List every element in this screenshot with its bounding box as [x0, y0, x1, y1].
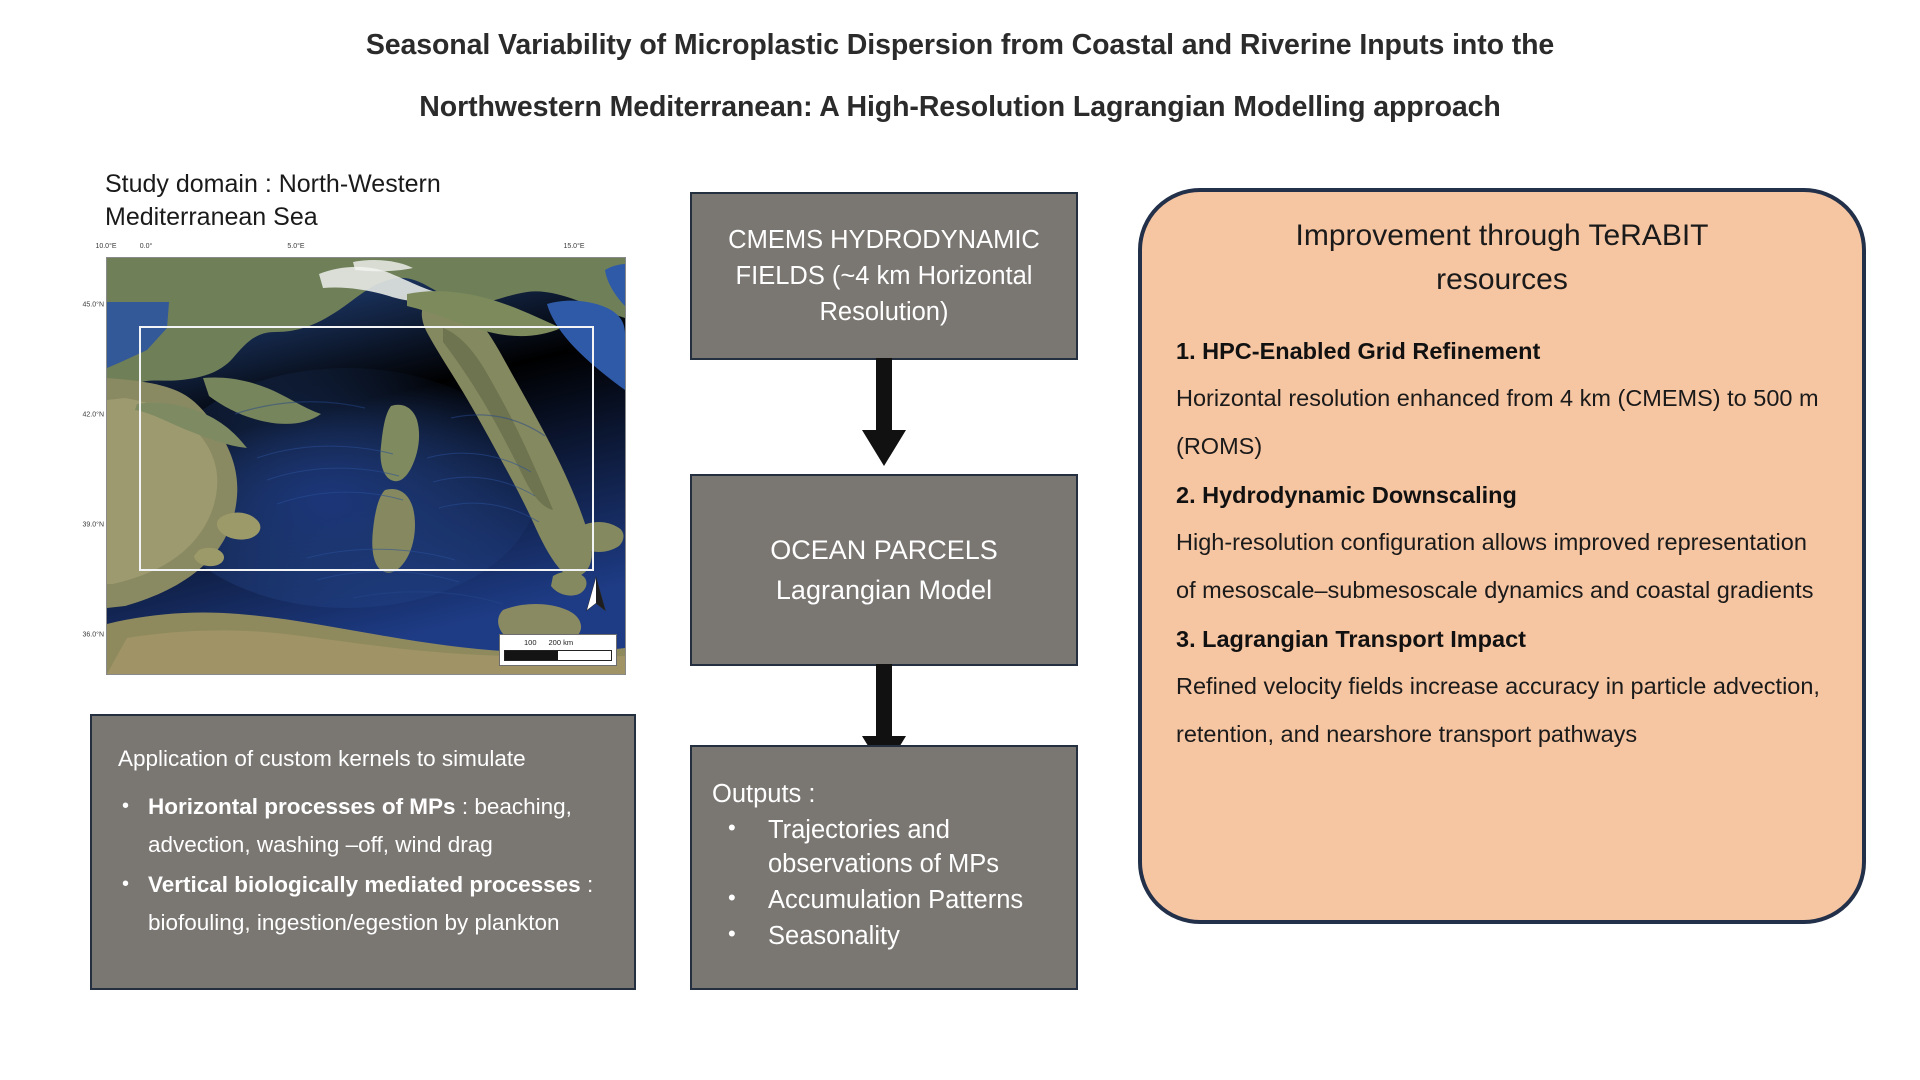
map-lat-tick-1: 42.0°N [83, 412, 104, 419]
cmems-hydrodynamic-fields-box: CMEMS HYDRODYNAMIC FIELDS (~4 km Horizon… [690, 192, 1078, 360]
scale-bar-segment-light [558, 651, 611, 660]
terabit-section-3-body: Refined velocity fields increase accurac… [1176, 662, 1828, 758]
terabit-section-3-heading: 3. Lagrangian Transport Impact [1176, 616, 1828, 662]
page-title: Seasonal Variability of Microplastic Dis… [260, 14, 1660, 138]
list-item: Horizontal processes of MPs : beaching, … [118, 788, 608, 864]
terabit-section-1-body: Horizontal resolution enhanced from 4 km… [1176, 374, 1828, 470]
map-lat-tick-0: 45.0°N [83, 302, 104, 309]
list-item: Trajectories and observations of MPs [722, 813, 1060, 881]
study-domain-caption: Study domain : North-Western Mediterrane… [105, 168, 505, 234]
study-domain-caption-line-1: Study domain : North-Western [105, 168, 505, 201]
map-lon-tick-2: 10.0°E [95, 243, 116, 250]
study-domain-map: 0.0° 5.0°E 10.0°E 15.0°E 45.0°N 42.0°N 3… [86, 243, 626, 673]
terabit-section-1-heading: 1. HPC-Enabled Grid Refinement [1176, 328, 1828, 374]
ocean-parcels-title: OCEAN PARCELS [770, 530, 998, 570]
title-line-2: Northwestern Mediterranean: A High-Resol… [260, 76, 1660, 138]
list-item: Accumulation Patterns [722, 883, 1060, 917]
ocean-parcels-model-box: OCEAN PARCELS Lagrangian Model [690, 474, 1078, 666]
terabit-section-3: 3. Lagrangian Transport Impact Refined v… [1176, 616, 1828, 758]
map-lon-tick-3: 15.0°E [563, 243, 584, 250]
study-domain-caption-line-2: Mediterranean Sea [105, 201, 505, 234]
map-lat-tick-2: 39.0°N [83, 522, 104, 529]
north-arrow-icon [583, 576, 609, 616]
map-lon-tick-1: 5.0°E [287, 243, 304, 250]
custom-kernels-box: Application of custom kernels to simulat… [90, 714, 636, 990]
map-lat-tick-3: 36.0°N [83, 632, 104, 639]
terabit-title-line-2: resources [1210, 258, 1794, 302]
outputs-list: Trajectories and observations of MPs Acc… [712, 813, 1060, 953]
cmems-box-label: CMEMS HYDRODYNAMIC FIELDS (~4 km Horizon… [710, 222, 1058, 330]
map-canvas: 100 200 km [106, 257, 626, 675]
scale-bar-segment-dark [505, 651, 558, 660]
kernels-intro-text: Application of custom kernels to simulat… [118, 744, 608, 774]
terabit-panel-title: Improvement through TeRABIT resources [1176, 214, 1828, 302]
map-longitude-axis: 0.0° 5.0°E 10.0°E 15.0°E [106, 243, 626, 257]
map-satellite-imagery [107, 258, 625, 674]
scale-bar-max-label: 200 km [549, 638, 574, 648]
terabit-section-1: 1. HPC-Enabled Grid Refinement Horizonta… [1176, 328, 1828, 470]
list-item: Seasonality [722, 919, 1060, 953]
outputs-box-title: Outputs : [712, 777, 1060, 811]
list-item: Vertical biologically mediated processes… [118, 866, 608, 942]
kernels-list: Horizontal processes of MPs : beaching, … [118, 788, 608, 942]
map-scale-bar: 100 200 km [499, 634, 617, 666]
terabit-improvement-panel: Improvement through TeRABIT resources 1.… [1138, 188, 1866, 924]
scale-bar-mid-label: 100 [524, 638, 537, 648]
outputs-box: Outputs : Trajectories and observations … [690, 745, 1078, 990]
map-latitude-axis: 45.0°N 42.0°N 39.0°N 36.0°N [86, 257, 106, 673]
ocean-parcels-subtitle: Lagrangian Model [770, 570, 998, 610]
map-lon-tick-0: 0.0° [140, 243, 153, 250]
title-line-1: Seasonal Variability of Microplastic Dis… [260, 14, 1660, 76]
terabit-section-2-heading: 2. Hydrodynamic Downscaling [1176, 472, 1828, 518]
arrow-cmems-to-parcels-icon [856, 358, 912, 470]
terabit-section-2-body: High-resolution configuration allows imp… [1176, 518, 1828, 614]
terabit-section-2: 2. Hydrodynamic Downscaling High-resolut… [1176, 472, 1828, 614]
kernels-item-0-label: Horizontal processes of MPs [148, 794, 456, 819]
terabit-title-line-1: Improvement through TeRABIT [1210, 214, 1794, 258]
kernels-item-1-label: Vertical biologically mediated processes [148, 872, 581, 897]
